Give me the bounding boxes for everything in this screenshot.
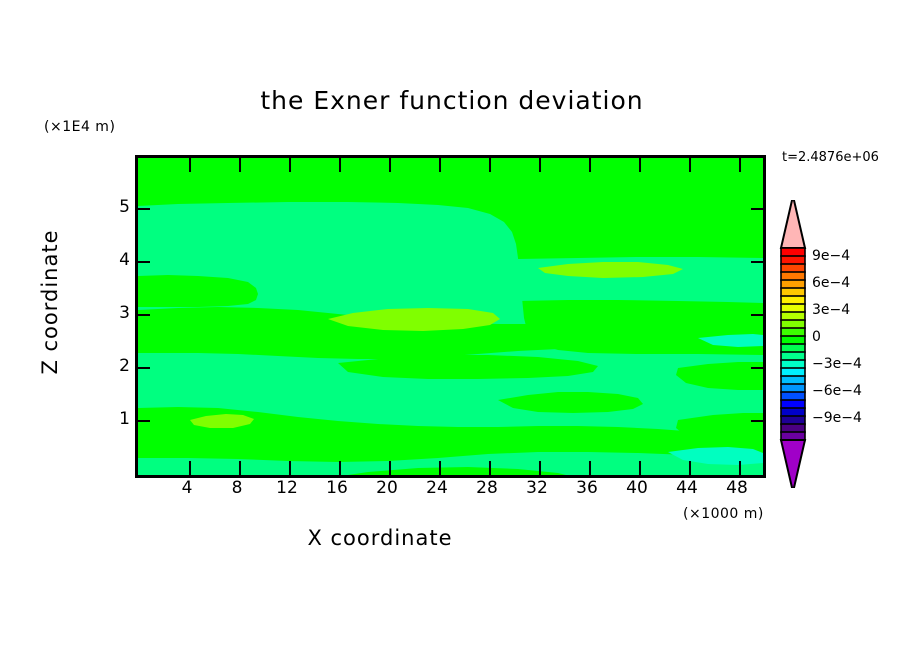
x-tick-label: 44	[667, 478, 707, 498]
x-tick-label: 32	[517, 478, 557, 498]
colorbar-cell	[781, 392, 805, 400]
x-tick-label: 4	[167, 478, 207, 498]
colorbar-cell	[781, 272, 805, 280]
colorbar-cell	[781, 304, 805, 312]
x-tick-label: 28	[467, 478, 507, 498]
colorbar	[779, 200, 807, 488]
colorbar-cells	[781, 248, 805, 440]
colorbar-tick-label: 6e−4	[812, 275, 850, 291]
x-tick-label: 16	[317, 478, 357, 498]
x-tick-label: 36	[567, 478, 607, 498]
x-tick-label: 8	[217, 478, 257, 498]
contour-plot-area	[135, 155, 766, 478]
colorbar-tick-label: 9e−4	[812, 248, 850, 264]
y-axis-unit-label: (×1E4 m)	[44, 119, 115, 135]
colorbar-cell	[781, 296, 805, 304]
colorbar-tick-label: −3e−4	[812, 356, 862, 372]
x-tick-label: 48	[717, 478, 757, 498]
colorbar-cell	[781, 352, 805, 360]
colorbar-tick-label: −9e−4	[812, 410, 862, 426]
colorbar-cell	[781, 280, 805, 288]
y-tick-label: 4	[96, 250, 130, 270]
colorbar-cell	[781, 360, 805, 368]
y-axis-label: Z coordinate	[38, 192, 62, 412]
colorbar-cell	[781, 288, 805, 296]
x-tick-label: 40	[617, 478, 657, 498]
colorbar-tick-label: 3e−4	[812, 302, 850, 318]
colorbar-cell	[781, 312, 805, 320]
colorbar-cell	[781, 328, 805, 336]
colorbar-cell	[781, 384, 805, 392]
colorbar-tick-label: −6e−4	[812, 383, 862, 399]
colorbar-cell	[781, 376, 805, 384]
y-tick-label: 5	[96, 197, 130, 217]
x-tick-label: 20	[367, 478, 407, 498]
colorbar-over-arrow	[781, 200, 805, 248]
colorbar-cell	[781, 368, 805, 376]
colorbar-cell	[781, 256, 805, 264]
y-tick-label: 3	[96, 303, 130, 323]
colorbar-cell	[781, 336, 805, 344]
time-annotation: t=2.4876e+06	[782, 150, 879, 165]
colorbar-cell	[781, 264, 805, 272]
y-tick-label: 2	[96, 356, 130, 376]
colorbar-cell	[781, 400, 805, 408]
x-axis-unit-label: (×1000 m)	[683, 506, 764, 522]
contour-field	[138, 158, 763, 475]
colorbar-cell	[781, 344, 805, 352]
colorbar-cell	[781, 416, 805, 424]
colorbar-cell	[781, 424, 805, 432]
x-tick-label: 24	[417, 478, 457, 498]
chart-title: the Exner function deviation	[0, 86, 904, 115]
y-tick-label: 1	[96, 409, 130, 429]
x-axis-label: X coordinate	[0, 526, 760, 550]
colorbar-tick-label: 0	[812, 329, 821, 345]
colorbar-cell	[781, 248, 805, 256]
colorbar-cell	[781, 408, 805, 416]
colorbar-under-arrow	[781, 440, 805, 488]
colorbar-swatches	[779, 200, 807, 488]
x-tick-label: 12	[267, 478, 307, 498]
colorbar-cell	[781, 320, 805, 328]
